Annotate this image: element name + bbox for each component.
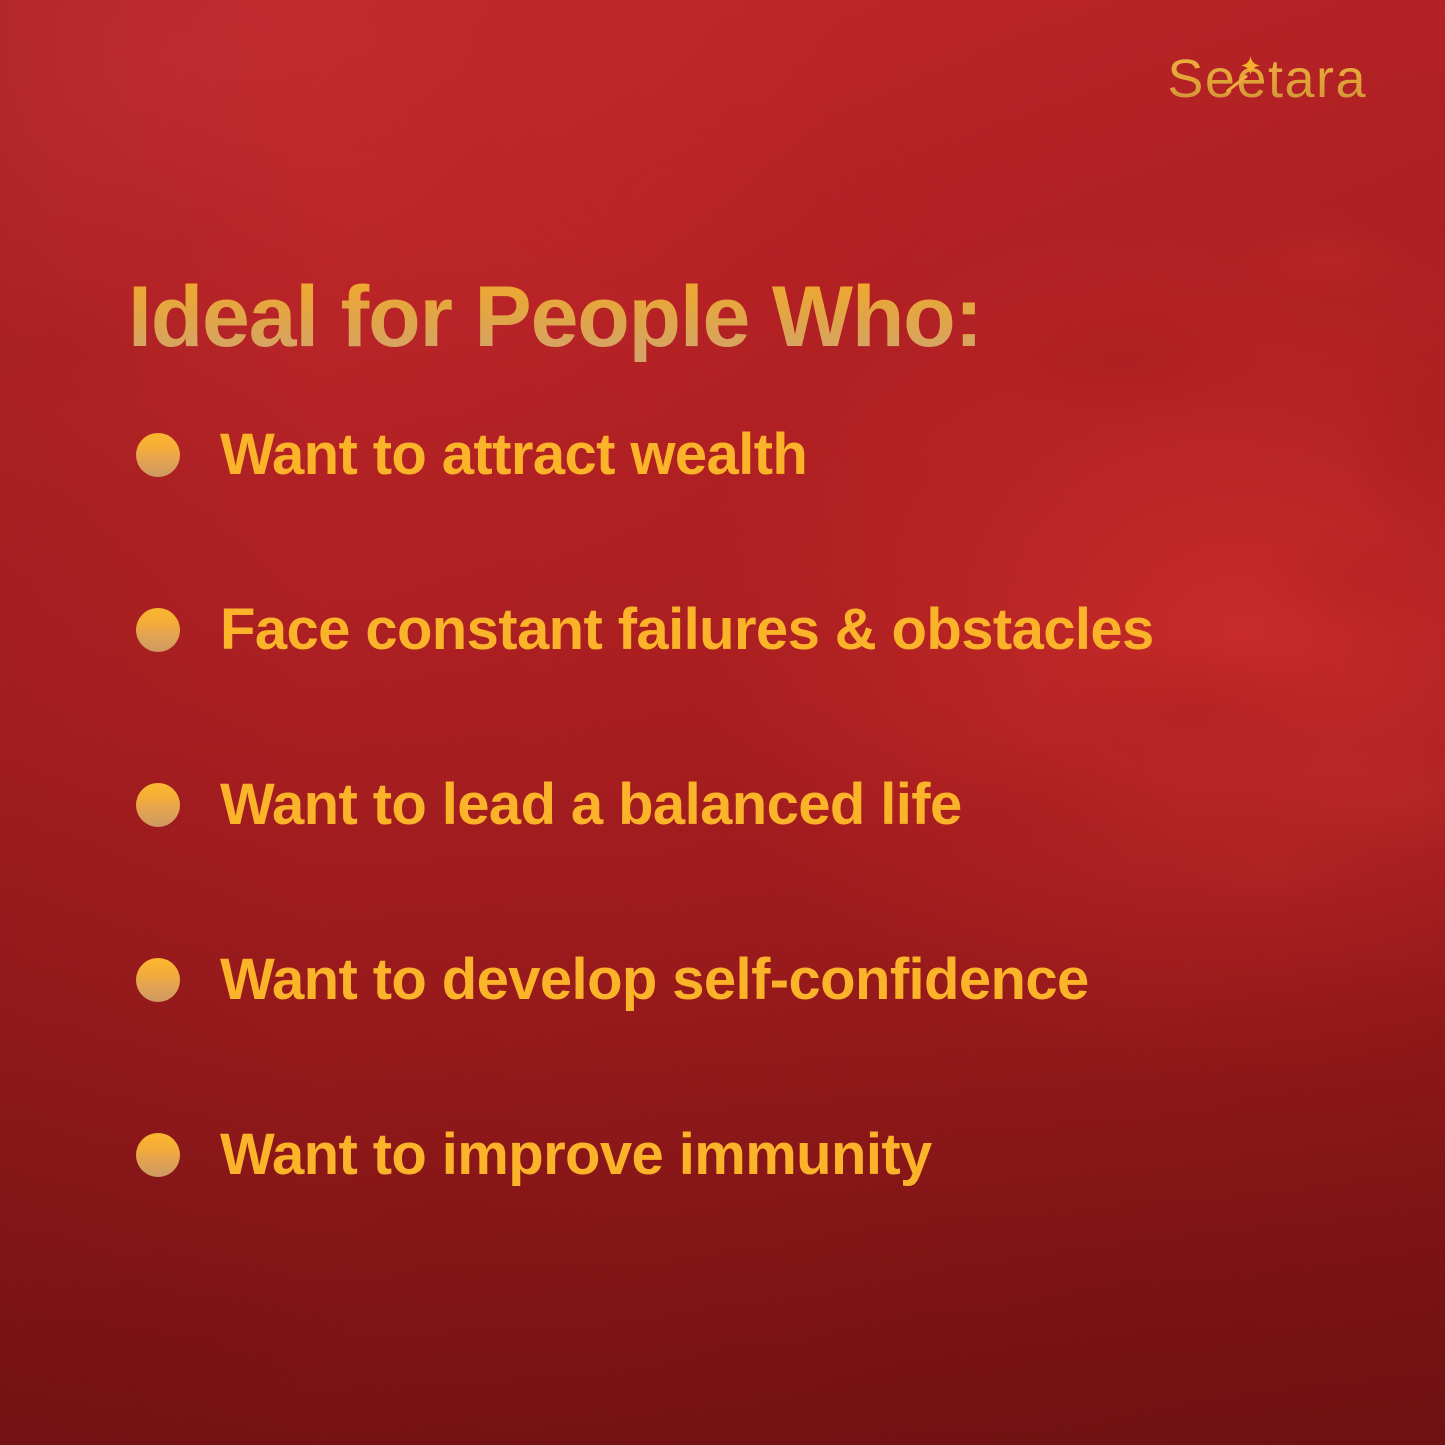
poster-content: Seetara Ideal for People Who: Want to at… (0, 0, 1445, 1445)
brand-wordmark: Seetara (1167, 52, 1367, 106)
poster-canvas: Seetara Ideal for People Who: Want to at… (0, 0, 1445, 1445)
page-title: Ideal for People Who: (128, 272, 982, 362)
list-item-label: Want to develop self-confidence (220, 951, 1089, 1009)
list-item: Face constant failures & obstacles (136, 599, 1366, 661)
list-item-label: Want to improve immunity (220, 1126, 932, 1184)
benefits-list: Want to attract wealth Face constant fai… (136, 424, 1366, 1186)
list-item-label: Want to lead a balanced life (220, 776, 962, 834)
list-item-label: Want to attract wealth (220, 426, 807, 484)
brand-logo[interactable]: Seetara (1167, 48, 1367, 110)
filled-circle-bullet-icon (136, 608, 180, 652)
filled-circle-bullet-icon (136, 433, 180, 477)
sparkle-star-icon (1241, 56, 1260, 75)
list-item-label: Face constant failures & obstacles (220, 601, 1154, 659)
list-item: Want to attract wealth (136, 424, 1366, 486)
filled-circle-bullet-icon (136, 958, 180, 1002)
list-item: Want to improve immunity (136, 1124, 1366, 1186)
list-item: Want to develop self-confidence (136, 949, 1366, 1011)
list-item: Want to lead a balanced life (136, 774, 1366, 836)
filled-circle-bullet-icon (136, 1133, 180, 1177)
filled-circle-bullet-icon (136, 783, 180, 827)
